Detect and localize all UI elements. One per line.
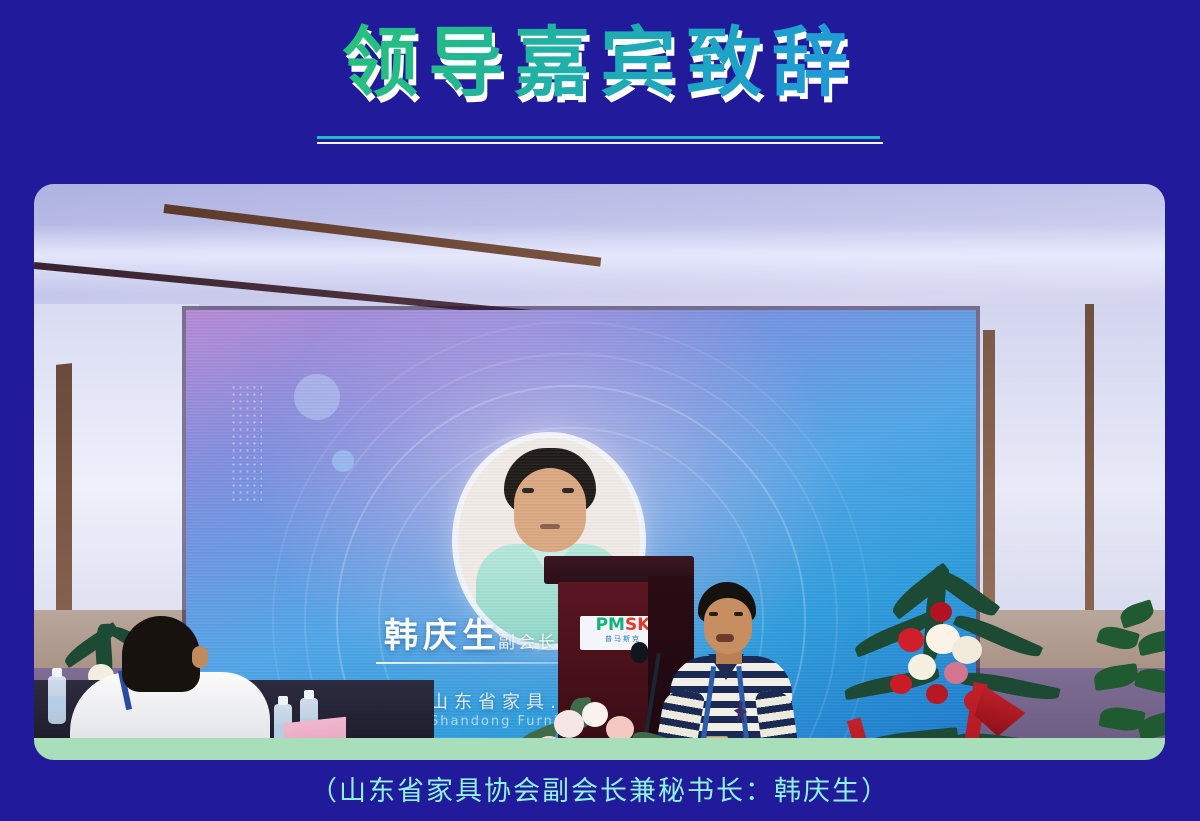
- stand-flower: [926, 684, 948, 704]
- photo-scene: 韩庆生 副会长兼秘… 山东省家具… Shandong Furnitu… PMSK…: [34, 184, 1165, 760]
- speaker-eye: [709, 612, 718, 616]
- poster-page: 领导嘉宾致辞 领导嘉宾致辞: [0, 0, 1200, 821]
- bouquet-flower: [582, 702, 608, 727]
- plant-leaf: [1093, 663, 1140, 691]
- podium-logo-sk: SK: [625, 615, 650, 635]
- potted-plant-right: [1094, 604, 1165, 760]
- audience-person-head: [122, 616, 200, 692]
- stand-flower: [952, 636, 982, 664]
- photo-accent-bar: [34, 738, 1165, 760]
- divider-line-white: [317, 142, 883, 144]
- page-title: 领导嘉宾致辞 领导嘉宾致辞: [0, 24, 1200, 102]
- title-divider: [317, 136, 883, 144]
- stand-flower: [890, 674, 912, 694]
- speaker-person: [654, 582, 804, 760]
- bottle-label: [48, 696, 66, 712]
- flower-stand-right-rear: [834, 566, 1094, 760]
- photo-caption: （山东省家具协会副会长兼秘书长：韩庆生）: [0, 769, 1200, 808]
- stand-flower: [930, 602, 952, 622]
- audience-ear: [192, 646, 208, 668]
- bottle-cap: [278, 696, 288, 705]
- podium-logo-text: PMSK: [596, 616, 651, 634]
- water-bottle: [48, 676, 66, 724]
- bouquet-flower: [554, 710, 584, 738]
- plant-leaf: [1096, 623, 1140, 653]
- bottle-cap: [304, 690, 314, 699]
- stand-flower: [944, 662, 968, 684]
- podium-logo-pm: PM: [596, 615, 625, 635]
- speaker-mouth: [716, 634, 734, 642]
- event-photo: 韩庆生 副会长兼秘… 山东省家具… Shandong Furnitu… PMSK…: [34, 184, 1165, 760]
- divider-line-cyan: [317, 136, 880, 139]
- stand-flower: [898, 628, 924, 652]
- speaker-eye: [734, 612, 743, 616]
- plant-leaf: [1136, 628, 1165, 656]
- speaker-face: [704, 598, 752, 654]
- plant-leaf: [1134, 665, 1165, 697]
- bottle-cap: [52, 668, 62, 677]
- plant-leaf: [1118, 599, 1157, 629]
- title-fill-layer: 领导嘉宾致辞: [342, 18, 858, 107]
- stand-flower: [908, 654, 936, 680]
- title-text-block: 领导嘉宾致辞 领导嘉宾致辞: [342, 24, 858, 102]
- microphone-head: [631, 642, 648, 663]
